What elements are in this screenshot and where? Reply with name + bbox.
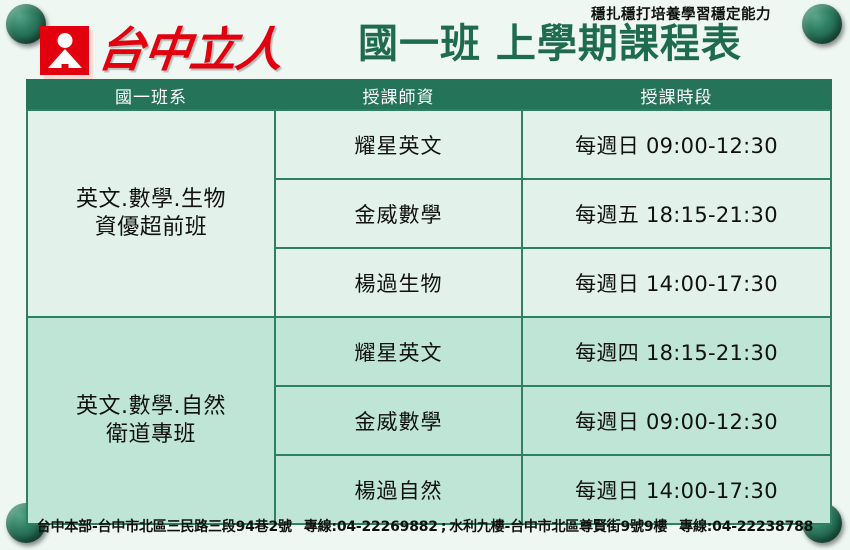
timeslot-cell: 每週日 09:00-12:30 (522, 386, 831, 455)
brand-logo: 台中立人 (40, 26, 282, 75)
group-name-line2: 資優超前班 (28, 214, 274, 242)
timeslot-cell: 每週日 14:00-17:30 (522, 248, 831, 317)
branch1-phone: 專線:04-22269882 (304, 519, 438, 535)
page-title: 國一班 上學期課程表 (358, 24, 808, 64)
teacher-cell: 耀星英文 (275, 110, 522, 179)
branch2-address: 水利九樓-台中市北區尊賢街9號9樓 (449, 519, 667, 535)
footer-contact-bar: 台中本部-台中市北區三民路三段94巷2號專線:04-22269882;水利九樓-… (0, 516, 850, 536)
course-schedule-table: 國一班系 授課師資 授課時段 英文.數學.生物 資優超前班 耀星英文 每週日 0… (26, 79, 832, 525)
group-name-cell: 英文.數學.自然 衛道專班 (27, 317, 275, 524)
timeslot-cell: 每週日 14:00-17:30 (522, 455, 831, 524)
timeslot-cell: 每週日 09:00-12:30 (522, 110, 831, 179)
logo-legs-shape (61, 64, 68, 75)
logo-head-shape (57, 33, 72, 48)
timeslot-cell: 每週五 18:15-21:30 (522, 179, 831, 248)
branch2-phone: 專線:04-22238788 (679, 519, 813, 535)
table-row: 英文.數學.自然 衛道專班 耀星英文 每週四 18:15-21:30 (27, 317, 831, 386)
page-header: 台中立人 穩扎穩打培養學習穩定能力 國一班 上學期課程表 (0, 0, 850, 78)
group-name-cell: 英文.數學.生物 資優超前班 (27, 110, 275, 317)
footer-separator: ; (438, 519, 449, 535)
table-header-row: 國一班系 授課師資 授課時段 (27, 80, 831, 110)
column-header-class: 國一班系 (27, 80, 275, 110)
teacher-cell: 金威數學 (275, 179, 522, 248)
teacher-cell: 楊過生物 (275, 248, 522, 317)
branch1-address: 台中本部-台中市北區三民路三段94巷2號 (37, 519, 292, 535)
teacher-cell: 楊過自然 (275, 455, 522, 524)
group-name-line1: 英文.數學.生物 (28, 186, 274, 214)
teacher-cell: 耀星英文 (275, 317, 522, 386)
group-name-line1: 英文.數學.自然 (28, 393, 274, 421)
timeslot-cell: 每週四 18:15-21:30 (522, 317, 831, 386)
person-in-square-icon (40, 26, 89, 75)
group-name-line2: 衛道專班 (28, 421, 274, 449)
brand-name: 台中立人 (95, 27, 285, 74)
table-row: 英文.數學.生物 資優超前班 耀星英文 每週日 09:00-12:30 (27, 110, 831, 179)
teacher-cell: 金威數學 (275, 386, 522, 455)
column-header-timeslot: 授課時段 (522, 80, 831, 110)
column-header-teacher: 授課師資 (275, 80, 522, 110)
